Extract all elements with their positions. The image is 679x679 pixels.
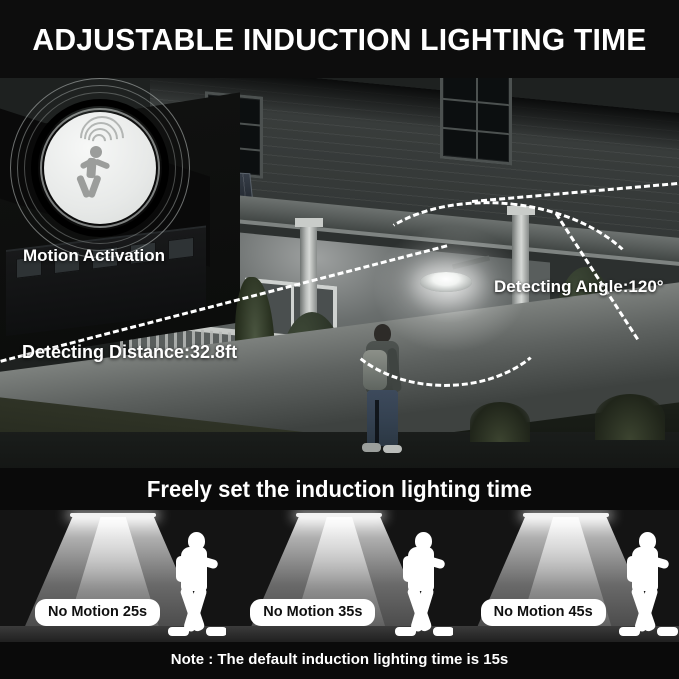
- panel-no-motion-25s: No Motion 25s: [0, 508, 226, 642]
- product-infographic: ADJUSTABLE INDUCTION LIGHTING TIME: [0, 0, 679, 679]
- driveway-foreground: [0, 432, 679, 470]
- house-window-right: [440, 72, 512, 165]
- grass-tuft: [595, 394, 665, 440]
- hero-photo: Motion Activation Detecting Distance:32.…: [0, 72, 679, 470]
- lamp-glow: [70, 513, 156, 517]
- walking-person-icon: [76, 146, 120, 198]
- grass-tuft: [470, 402, 530, 442]
- lighting-time-panels: No Motion 25s No Motion 35s: [0, 508, 679, 642]
- footer-note: Note : The default induction lighting ti…: [0, 651, 679, 668]
- column-cap-left: [295, 218, 323, 227]
- lamp-glow: [523, 513, 609, 517]
- detecting-angle-label: Detecting Angle:120°: [494, 277, 664, 297]
- walking-silhouette: [395, 532, 453, 636]
- subtitle: Freely set the induction lighting time: [14, 476, 666, 503]
- panel-label-pill: No Motion 35s: [250, 599, 375, 626]
- panel-label-pill: No Motion 25s: [35, 599, 160, 626]
- footer-note-band: Note : The default induction lighting ti…: [0, 642, 679, 679]
- walking-silhouette: [619, 532, 679, 636]
- panel-no-motion-45s: No Motion 45s: [453, 508, 679, 642]
- page-title: ADJUSTABLE INDUCTION LIGHTING TIME: [10, 22, 669, 58]
- detection-angle-arc-bottom: [330, 222, 560, 387]
- subtitle-band: Freely set the induction lighting time: [0, 468, 679, 510]
- title-band: ADJUSTABLE INDUCTION LIGHTING TIME: [0, 0, 679, 78]
- detecting-distance-label: Detecting Distance:32.8ft: [22, 342, 237, 363]
- panel-no-motion-35s: No Motion 35s: [226, 508, 452, 642]
- motion-activation-badge: [10, 78, 190, 258]
- walking-silhouette: [168, 532, 226, 636]
- motion-activation-caption: Motion Activation: [23, 246, 165, 266]
- lamp-glow: [296, 513, 382, 517]
- panel-label-pill: No Motion 45s: [481, 599, 606, 626]
